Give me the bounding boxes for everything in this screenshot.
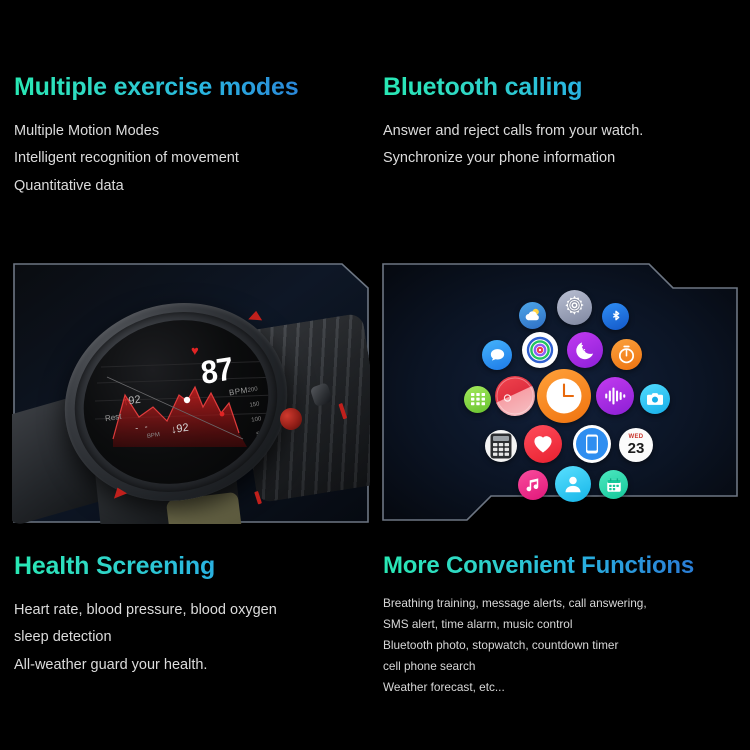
watch-photo-panel: ♥ 87 BPM ↑92 ↓92 Rest - - BPM xyxy=(12,262,370,524)
section-exercise-line-3: Quantitative data xyxy=(14,173,374,201)
section-health-line-2: sleep detection xyxy=(14,624,374,652)
section-bluetooth-line-1: Answer and reject calls from your watch. xyxy=(383,118,743,146)
bpm-min-value: 92 xyxy=(176,422,190,436)
stopwatch-icon[interactable] xyxy=(611,339,642,370)
section-functions-line-1: Breathing training, message alerts, call… xyxy=(383,593,743,614)
reminders-icon[interactable] xyxy=(599,470,628,499)
apps-panel: z z xyxy=(381,262,739,524)
section-health-headline: Health Screening xyxy=(14,553,374,581)
bpm-value: 87 xyxy=(199,351,234,392)
section-bluetooth-headline: Bluetooth calling xyxy=(383,74,743,102)
section-bluetooth: Bluetooth calling Answer and reject call… xyxy=(383,74,743,173)
settings-gear-icon[interactable] xyxy=(557,290,592,325)
music-note-icon[interactable] xyxy=(518,470,548,500)
section-bluetooth-line-2: Synchronize your phone information xyxy=(383,145,743,173)
section-functions-headline: More Convenient Functions xyxy=(383,553,743,579)
section-functions-line-4: cell phone search xyxy=(383,656,743,677)
keypad-icon[interactable] xyxy=(464,386,491,413)
blood-oxygen-icon[interactable] xyxy=(495,376,535,416)
section-health-line-1: Heart rate, blood pressure, blood oxygen xyxy=(14,597,374,625)
y-tick-2: 150 xyxy=(249,401,260,409)
section-exercise-line-2: Intelligent recognition of movement xyxy=(14,145,374,173)
watch-screen: ♥ 87 BPM ↑92 ↓92 Rest - - BPM xyxy=(73,306,279,499)
calculator-icon[interactable] xyxy=(485,430,517,462)
section-functions-line-5: Weather forecast, etc... xyxy=(383,677,743,698)
y-tick-4: 50 xyxy=(253,431,264,439)
section-functions-line-2: SMS alert, time alarm, music control xyxy=(383,614,743,635)
section-functions-lines: Breathing training, message alerts, call… xyxy=(383,593,743,698)
weather-icon[interactable] xyxy=(519,302,546,329)
section-bluetooth-lines: Answer and reject calls from your watch.… xyxy=(383,118,743,174)
section-exercise-headline: Multiple exercise modes xyxy=(14,74,374,102)
section-functions: More Convenient Functions Breathing trai… xyxy=(383,553,743,698)
section-exercise: Multiple exercise modes Multiple Motion … xyxy=(14,74,374,201)
smartwatch-render: ♥ 87 BPM ↑92 ↓92 Rest - - BPM xyxy=(12,262,370,524)
messages-icon[interactable] xyxy=(482,340,512,370)
section-health-lines: Heart rate, blood pressure, blood oxygen… xyxy=(14,597,374,681)
music-wave-icon[interactable] xyxy=(596,377,634,415)
y-tick-3: 100 xyxy=(251,416,262,424)
bezel-marker-top xyxy=(248,310,263,320)
activity-rings-icon[interactable] xyxy=(522,332,558,368)
clock-icon[interactable] xyxy=(537,369,591,423)
sleep-moon-icon[interactable]: z z xyxy=(567,332,603,368)
camera-icon[interactable] xyxy=(640,384,670,414)
bluetooth-icon[interactable] xyxy=(602,303,629,330)
contacts-icon[interactable] xyxy=(555,466,591,502)
section-exercise-line-1: Multiple Motion Modes xyxy=(14,118,374,146)
heart-rate-icon[interactable] xyxy=(524,425,562,463)
section-exercise-lines: Multiple Motion Modes Intelligent recogn… xyxy=(14,118,374,202)
calendar-day: 23 xyxy=(628,441,645,456)
section-health-line-3: All-weather guard your health. xyxy=(14,652,374,680)
app-icon-cluster: z z xyxy=(381,262,739,524)
calendar-date-icon[interactable]: WED 23 xyxy=(619,428,653,462)
bpm-max-value: 92 xyxy=(128,394,142,408)
feature-page: Multiple exercise modes Multiple Motion … xyxy=(0,0,750,750)
section-functions-line-3: Bluetooth photo, stopwatch, countdown ti… xyxy=(383,635,743,656)
section-health: Health Screening Heart rate, blood press… xyxy=(14,553,374,680)
y-tick-1: 200 xyxy=(247,386,258,394)
phone-find-icon[interactable] xyxy=(573,425,611,463)
